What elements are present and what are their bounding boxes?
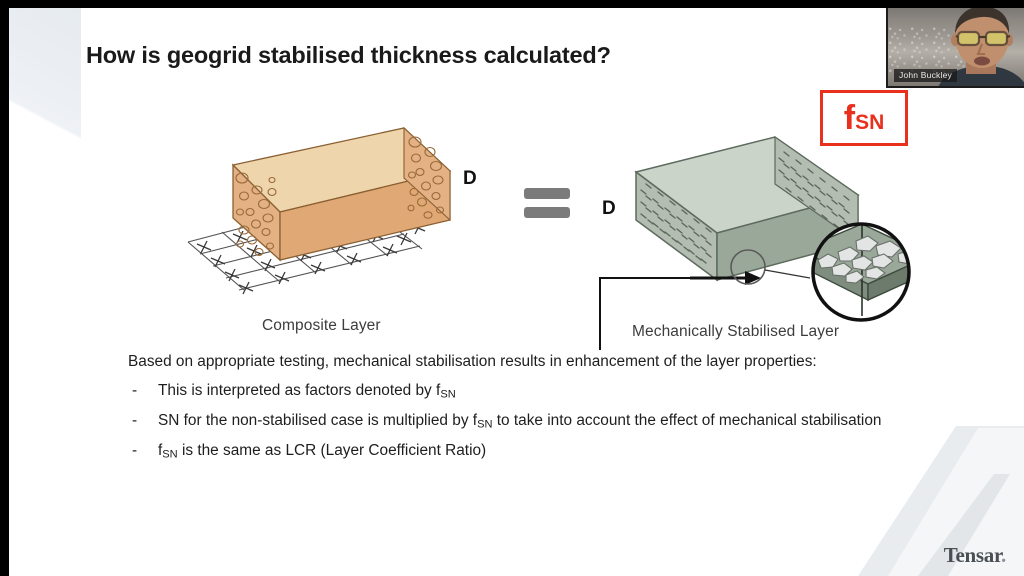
brand-logo-dot: . [1001,543,1006,567]
bullet-subscript: SN [477,419,492,431]
equals-bar-top [524,188,570,199]
body-bullet-list: - This is interpreted as factors denoted… [128,381,1008,462]
bullet-marker: - [132,411,137,431]
bullet-subscript: SN [440,389,455,401]
depth-label-right: D [602,198,616,220]
body-text-block: Based on appropriate testing, mechanical… [128,352,1008,472]
brand-logo-text: Tensar [944,543,1001,567]
bullet-marker: - [132,381,137,401]
fsn-symbol-main: f [844,101,855,135]
composite-layer-block [188,128,450,294]
letterbox-bar-left [0,0,9,576]
caption-mechanically-stabilised-layer: Mechanically Stabilised Layer [632,323,839,341]
magnifier-connector [765,270,810,278]
webcam-participant-name: John Buckley [894,69,957,83]
list-item: - SN for the non-stabilised case is mult… [128,411,1008,432]
bullet-text-pre: This is interpreted as factors denoted b… [158,382,440,399]
bullet-text-pre: SN for the non-stabilised case is multip… [158,412,477,429]
mechanically-stabilised-layer-block [600,137,858,350]
list-item: - This is interpreted as factors denoted… [128,381,1008,402]
thickness-comparison-diagram [0,120,1024,350]
page-title: How is geogrid stabilised thickness calc… [86,42,611,69]
caption-composite-layer: Composite Layer [262,317,381,335]
list-item: - fSN is the same as LCR (Layer Coeffici… [128,441,1008,462]
body-lead-paragraph: Based on appropriate testing, mechanical… [128,352,1008,372]
letterbox-bar-top [0,0,1024,8]
webcam-thumbnail[interactable]: John Buckley [886,0,1024,88]
fsn-badge-text: fSN [844,101,885,135]
brand-logo: Tensar. [944,543,1006,568]
bullet-marker: - [132,441,137,461]
depth-label-left: D [463,168,477,190]
bullet-text-post: is the same as LCR (Layer Coefficient Ra… [178,442,487,459]
equals-sign [524,188,572,224]
bullet-subscript: SN [162,449,177,461]
presentation-slide: How is geogrid stabilised thickness calc… [0,0,1024,576]
equals-bar-bottom [524,207,570,218]
fsn-symbol-subscript: SN [855,112,884,133]
bullet-text-post: to take into account the effect of mecha… [492,412,881,429]
fsn-badge: fSN [820,90,908,146]
